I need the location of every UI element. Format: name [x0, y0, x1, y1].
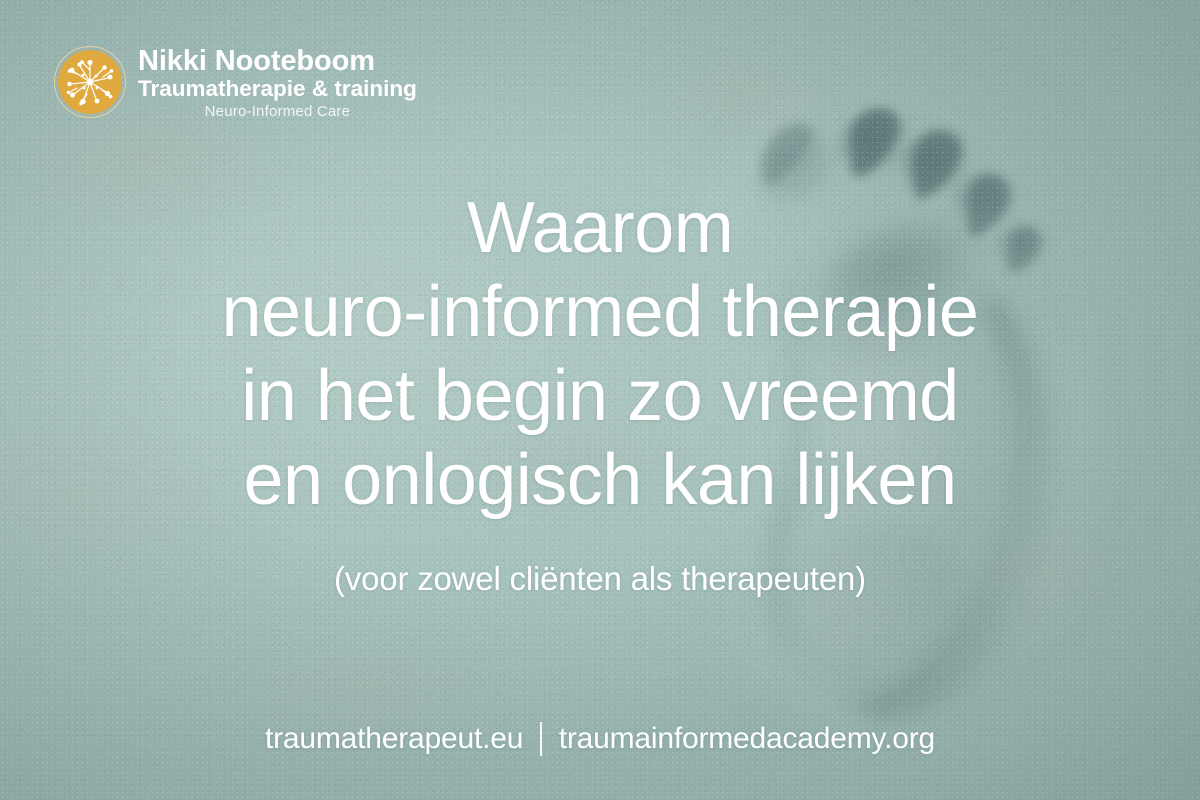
headline-line-4: en onlogisch kan lijken — [0, 438, 1200, 522]
logo-text-block: Nikki Nooteboom Traumatherapie & trainin… — [138, 44, 417, 120]
brand-logo[interactable]: Nikki Nooteboom Traumatherapie & trainin… — [54, 44, 417, 120]
brand-name: Nikki Nooteboom — [138, 46, 417, 76]
footer-link-primary[interactable]: traumatherapeut.eu — [265, 722, 523, 756]
headline-line-2: neuro-informed therapie — [0, 270, 1200, 354]
footer-link-secondary[interactable]: traumainformedacademy.org — [559, 722, 935, 756]
footer-links: traumatherapeut.eu traumainformedacademy… — [0, 722, 1200, 756]
headline-line-1: Waarom — [0, 186, 1200, 270]
headline-block: Waarom neuro-informed therapie in het be… — [0, 186, 1200, 522]
logo-mark — [54, 46, 126, 118]
brand-subtitle: Neuro-Informed Care — [138, 104, 417, 121]
footer-separator — [540, 722, 542, 756]
brand-tagline: Traumatherapie & training — [138, 77, 417, 101]
poster-canvas: Nikki Nooteboom Traumatherapie & trainin… — [0, 0, 1200, 800]
subheadline: (voor zowel cliënten als therapeuten) — [0, 560, 1200, 598]
starburst-neuron-icon — [58, 50, 122, 114]
headline-line-3: in het begin zo vreemd — [0, 354, 1200, 438]
